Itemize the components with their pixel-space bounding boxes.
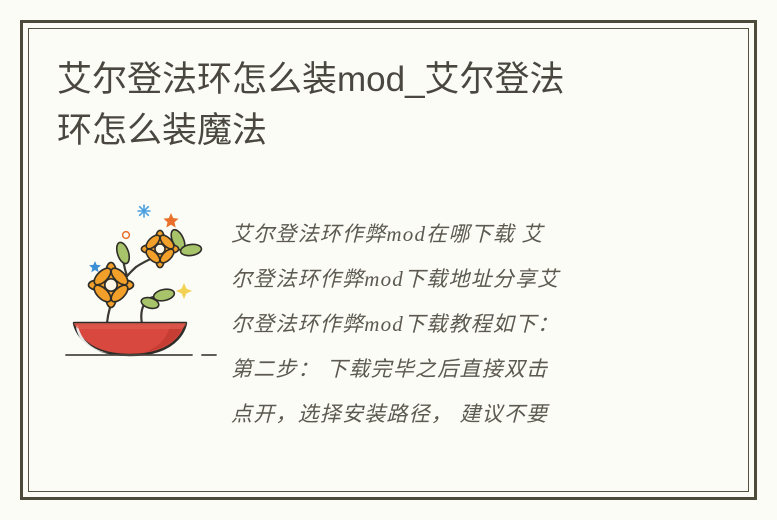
page-title-line-1: 艾尔登法环怎么装mod_艾尔登法 xyxy=(57,54,677,105)
flower-pot-illustration xyxy=(60,195,220,365)
flower-bowl xyxy=(74,323,186,355)
sparkle-blue-snowflake-icon xyxy=(138,205,150,217)
sparkle-blue-dot-icon xyxy=(89,261,101,272)
article-body-line-2: 尔登法环作弊mod下载地址分享艾 xyxy=(231,257,661,302)
article-body-line-1: 艾尔登法环作弊mod在哪下载 艾 xyxy=(231,212,661,257)
page-root: 艾尔登法环怎么装mod_艾尔登法 环怎么装魔法 xyxy=(0,0,777,520)
article-body-line-4: 第二步： 下载完毕之后直接双击 xyxy=(231,347,661,392)
page-title: 艾尔登法环怎么装mod_艾尔登法 环怎么装魔法 xyxy=(57,54,677,156)
article-body-line-5: 点开，选择安装路径， 建议不要 xyxy=(231,392,661,437)
page-title-line-2: 环怎么装魔法 xyxy=(57,105,677,156)
article-body: 艾尔登法环作弊mod在哪下载 艾 尔登法环作弊mod下载地址分享艾 尔登法环作弊… xyxy=(231,212,661,437)
sparkle-yellow-diamond-icon xyxy=(176,283,192,299)
article-body-line-3: 尔登法环作弊mod下载教程如下： xyxy=(231,302,661,347)
sparkle-orange-ring-icon xyxy=(123,232,130,239)
sparkle-orange-star-icon xyxy=(163,213,178,228)
